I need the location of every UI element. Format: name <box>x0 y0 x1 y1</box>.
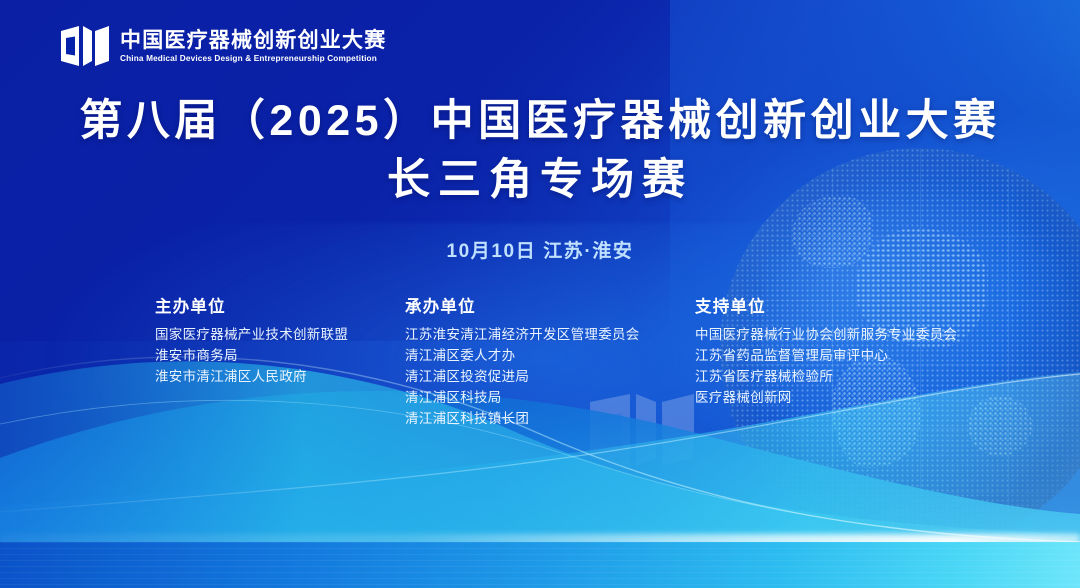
organizer-column-co-host: 承办单位 江苏淮安清江浦经济开发区管理委员会 清江浦区委人才办 清江浦区投资促进… <box>405 298 695 429</box>
brand-name-en: China Medical Devices Design & Entrepren… <box>120 54 378 63</box>
organizer-item: 国家医疗器械产业技术创新联盟 <box>155 324 405 345</box>
organizer-item: 中国医疗器械行业协会创新服务专业委员会 <box>695 324 957 345</box>
organizer-heading: 支持单位 <box>695 298 957 318</box>
brand-logo[interactable]: 中国医疗器械创新创业大赛 China Medical Devices Desig… <box>60 24 386 68</box>
open-door-logo-icon <box>60 24 110 68</box>
organizer-item: 淮安市商务局 <box>155 345 405 366</box>
organizer-heading: 承办单位 <box>405 298 695 318</box>
organizer-column-support: 支持单位 中国医疗器械行业协会创新服务专业委员会 江苏省药品监督管理局审评中心 … <box>695 298 957 429</box>
brand-name-cn: 中国医疗器械创新创业大赛 <box>120 30 386 51</box>
organizer-heading: 主办单位 <box>155 298 405 318</box>
organizer-column-host: 主办单位 国家医疗器械产业技术创新联盟 淮安市商务局 淮安市清江浦区人民政府 <box>155 298 405 429</box>
organizer-item: 清江浦区委人才办 <box>405 345 695 366</box>
title-line-2: 长三角专场赛 <box>0 155 1080 206</box>
organizer-item: 江苏淮安清江浦经济开发区管理委员会 <box>405 324 695 345</box>
bottom-stripe-band <box>0 542 1080 588</box>
organizer-item: 清江浦区科技镇长团 <box>405 408 695 429</box>
organizer-columns: 主办单位 国家医疗器械产业技术创新联盟 淮安市商务局 淮安市清江浦区人民政府 承… <box>155 298 1020 429</box>
organizer-item: 医疗器械创新网 <box>695 387 957 408</box>
event-date-location: 10月10日 江苏·淮安 <box>0 236 1080 263</box>
organizer-item: 清江浦区科技局 <box>405 387 695 408</box>
organizer-item: 淮安市清江浦区人民政府 <box>155 366 405 387</box>
organizer-item: 江苏省药品监督管理局审评中心 <box>695 345 957 366</box>
brand-logo-text: 中国医疗器械创新创业大赛 China Medical Devices Desig… <box>120 30 386 63</box>
poster-canvas: 中国医疗器械创新创业大赛 China Medical Devices Desig… <box>0 0 1080 588</box>
organizer-item: 江苏省医疗器械检验所 <box>695 366 957 387</box>
organizer-item: 清江浦区投资促进局 <box>405 366 695 387</box>
title-line-1: 第八届（2025）中国医疗器械创新创业大赛 <box>0 96 1080 147</box>
page-title: 第八届（2025）中国医疗器械创新创业大赛 长三角专场赛 <box>0 96 1080 205</box>
